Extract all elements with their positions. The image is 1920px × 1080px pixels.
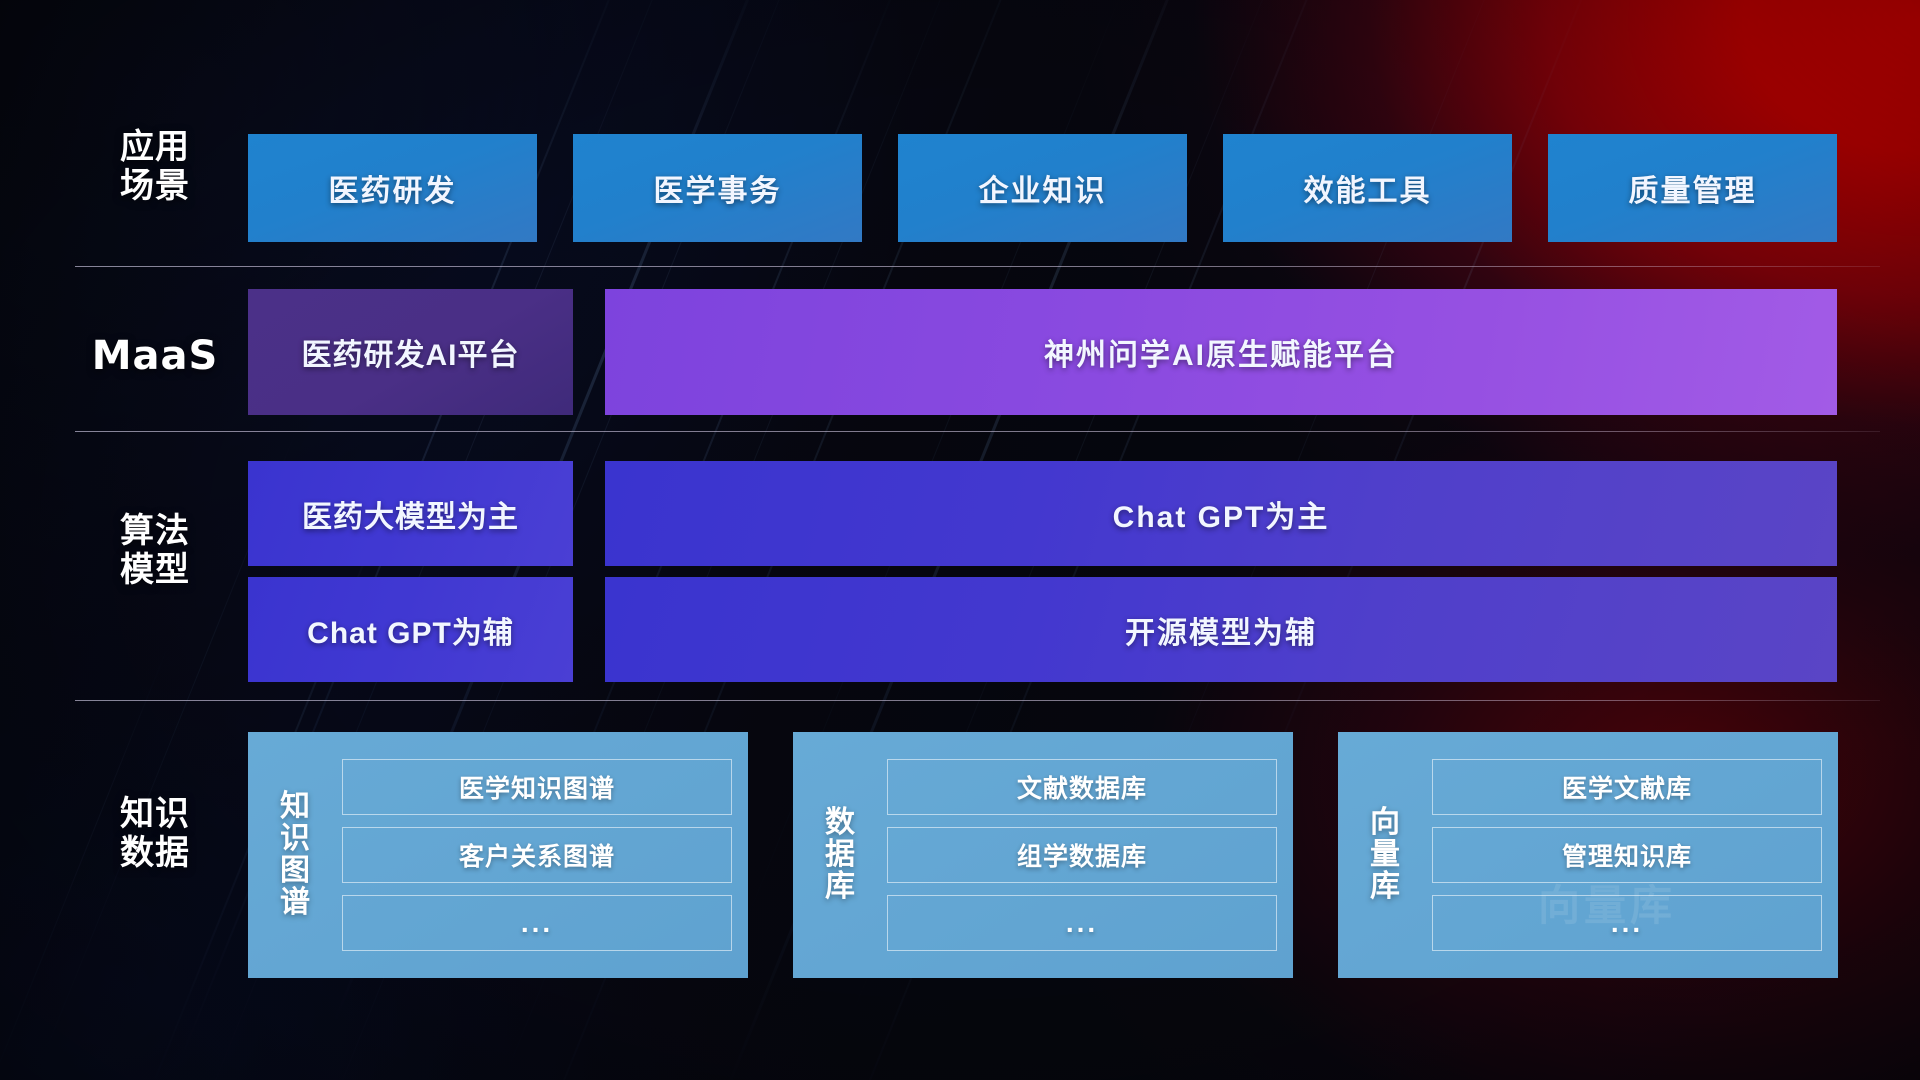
title-char: 向 xyxy=(1370,807,1400,839)
row-label-line: 场景 xyxy=(75,167,235,206)
divider-after-maas xyxy=(75,431,1880,432)
title-char: 库 xyxy=(1370,871,1400,903)
scenario-box-efficiency-tools[interactable]: 效能工具 xyxy=(1223,134,1512,242)
knowledge-item[interactable]: 医学文献库 xyxy=(1432,759,1822,815)
knowledge-item-more[interactable]: ... xyxy=(342,895,732,951)
title-char: 图 xyxy=(280,855,310,887)
knowledge-group-title-vector-store: 向 量 库 xyxy=(1356,807,1414,902)
knowledge-item[interactable]: 组学数据库 xyxy=(887,827,1277,883)
row-label-maas: MaaS xyxy=(75,333,235,379)
row-label-line: 知识 xyxy=(75,795,235,834)
knowledge-group-database[interactable]: 数 据 库 文献数据库 组学数据库 ... xyxy=(793,732,1293,978)
title-char: 库 xyxy=(825,871,855,903)
maas-box-medicine-rd-ai-platform[interactable]: 医药研发AI平台 xyxy=(248,289,573,415)
knowledge-group-title-database: 数 据 库 xyxy=(811,807,869,902)
knowledge-item-list: 医学知识图谱 客户关系图谱 ... xyxy=(342,759,732,951)
knowledge-item[interactable]: 文献数据库 xyxy=(887,759,1277,815)
knowledge-item-more[interactable]: ... xyxy=(887,895,1277,951)
scenario-box-enterprise-knowledge[interactable]: 企业知识 xyxy=(898,134,1187,242)
architecture-diagram: 应用 场景 医药研发 医学事务 企业知识 效能工具 质量管理 MaaS 医药研发… xyxy=(0,0,1920,1080)
row-label-knowledge-data: 知识 数据 xyxy=(75,795,235,874)
title-char: 知 xyxy=(280,791,310,823)
title-char: 数 xyxy=(825,807,855,839)
scenario-box-quality-management[interactable]: 质量管理 xyxy=(1548,134,1837,242)
algorithm-box-medicine-large-model-primary[interactable]: 医药大模型为主 xyxy=(248,461,573,566)
row-label-line: MaaS xyxy=(75,333,235,379)
row-label-line: 模型 xyxy=(75,551,235,590)
title-char: 谱 xyxy=(280,887,310,919)
algorithm-box-open-source-secondary[interactable]: 开源模型为辅 xyxy=(605,577,1837,682)
scenario-box-medicine-rd[interactable]: 医药研发 xyxy=(248,134,537,242)
divider-after-application-scenario xyxy=(75,266,1880,267)
title-char: 识 xyxy=(280,823,310,855)
knowledge-item[interactable]: 管理知识库 xyxy=(1432,827,1822,883)
row-label-algorithm-model: 算法 模型 xyxy=(75,512,235,591)
knowledge-item[interactable]: 客户关系图谱 xyxy=(342,827,732,883)
title-char: 据 xyxy=(825,839,855,871)
maas-box-shenzhou-wenxue-platform[interactable]: 神州问学AI原生赋能平台 xyxy=(605,289,1837,415)
title-char: 量 xyxy=(1370,839,1400,871)
row-label-line: 应用 xyxy=(75,128,235,167)
knowledge-group-title-knowledge-graph: 知 识 图 谱 xyxy=(266,791,324,918)
knowledge-item-list: 文献数据库 组学数据库 ... xyxy=(887,759,1277,951)
knowledge-group-vector-store[interactable]: 向 量 库 医学文献库 管理知识库 ... 向量库 xyxy=(1338,732,1838,978)
scenario-box-medical-affairs[interactable]: 医学事务 xyxy=(573,134,862,242)
knowledge-group-knowledge-graph[interactable]: 知 识 图 谱 医学知识图谱 客户关系图谱 ... xyxy=(248,732,748,978)
divider-after-algorithm-model xyxy=(75,700,1880,701)
algorithm-box-chatgpt-primary[interactable]: Chat GPT为主 xyxy=(605,461,1837,566)
knowledge-item-list: 医学文献库 管理知识库 ... xyxy=(1432,759,1822,951)
row-label-line: 算法 xyxy=(75,512,235,551)
row-label-line: 数据 xyxy=(75,834,235,873)
algorithm-box-chatgpt-secondary[interactable]: Chat GPT为辅 xyxy=(248,577,573,682)
knowledge-item[interactable]: 医学知识图谱 xyxy=(342,759,732,815)
knowledge-item-more[interactable]: ... xyxy=(1432,895,1822,951)
row-label-application-scenario: 应用 场景 xyxy=(75,128,235,207)
